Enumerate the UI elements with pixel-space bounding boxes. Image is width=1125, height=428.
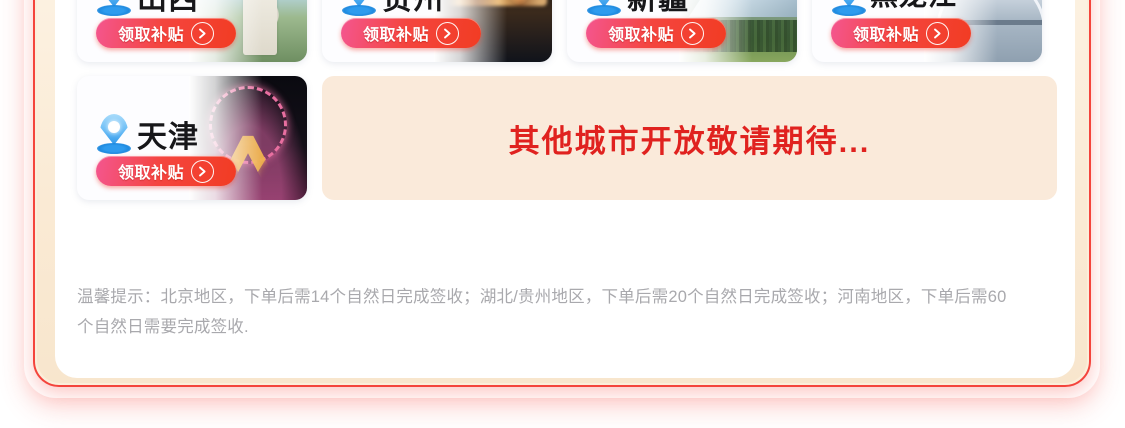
city-card-heilongjiang[interactable]: 黑龙江 领取补贴: [812, 0, 1042, 62]
coming-soon-label: 其他城市开放敬请期待...: [509, 116, 871, 161]
chevron-right-icon: [191, 160, 214, 183]
claim-subsidy-label: 领取补贴: [363, 21, 429, 45]
claim-subsidy-button-tianjin[interactable]: 领取补贴: [96, 156, 236, 186]
claim-subsidy-label: 领取补贴: [853, 21, 919, 45]
promo-content-card: 山西 领取补贴 贵州 领取补贴: [55, 0, 1075, 378]
mountain-peak-shape: [688, 0, 797, 17]
chevron-right-icon: [191, 22, 214, 45]
claim-subsidy-label: 领取补贴: [608, 21, 674, 45]
city-card-guizhou[interactable]: 贵州 领取补贴: [322, 0, 552, 62]
city-card-tianjin[interactable]: 天津 领取补贴: [77, 76, 307, 200]
chevron-right-icon: [926, 22, 949, 45]
city-card-shanxi[interactable]: 山西 领取补贴: [77, 0, 307, 62]
city-name-label: 山西: [137, 0, 199, 18]
coming-soon-banner: 其他城市开放敬请期待...: [322, 76, 1057, 200]
city-card-xinjiang[interactable]: 新疆 领取补贴: [567, 0, 797, 62]
map-pin-icon: [97, 0, 131, 18]
claim-subsidy-button-shanxi[interactable]: 领取补贴: [96, 18, 236, 48]
city-name-label: 黑龙江: [870, 0, 957, 14]
claim-subsidy-button-heilongjiang[interactable]: 领取补贴: [831, 18, 971, 48]
map-pin-icon: [97, 114, 131, 156]
map-pin-icon: [832, 0, 866, 18]
city-card-row-1: 山西 领取补贴 贵州 领取补贴: [77, 0, 1057, 62]
map-pin-icon: [587, 0, 621, 18]
city-lights-shape: [446, 0, 547, 6]
city-name-label: 新疆: [627, 0, 689, 18]
city-name-label: 贵州: [382, 0, 444, 18]
claim-subsidy-label: 领取补贴: [118, 21, 184, 45]
pagoda-shape: [243, 0, 277, 55]
city-card-grid: 山西 领取补贴 贵州 领取补贴: [77, 0, 1057, 200]
chevron-right-icon: [681, 22, 704, 45]
claim-subsidy-label: 领取补贴: [118, 159, 184, 183]
claim-subsidy-button-guizhou[interactable]: 领取补贴: [341, 18, 481, 48]
ferris-wheel-shape: [209, 86, 287, 164]
chevron-right-icon: [436, 22, 459, 45]
map-pin-icon: [342, 0, 376, 18]
city-name-label: 天津: [137, 112, 199, 156]
claim-subsidy-button-xinjiang[interactable]: 领取补贴: [586, 18, 726, 48]
city-card-row-2: 天津 领取补贴 其他城市开放敬请期待...: [77, 76, 1057, 200]
disclaimer-text: 温馨提示：北京地区，下单后需14个自然日完成签收；湖北/贵州地区，下单后需20个…: [77, 282, 1017, 342]
